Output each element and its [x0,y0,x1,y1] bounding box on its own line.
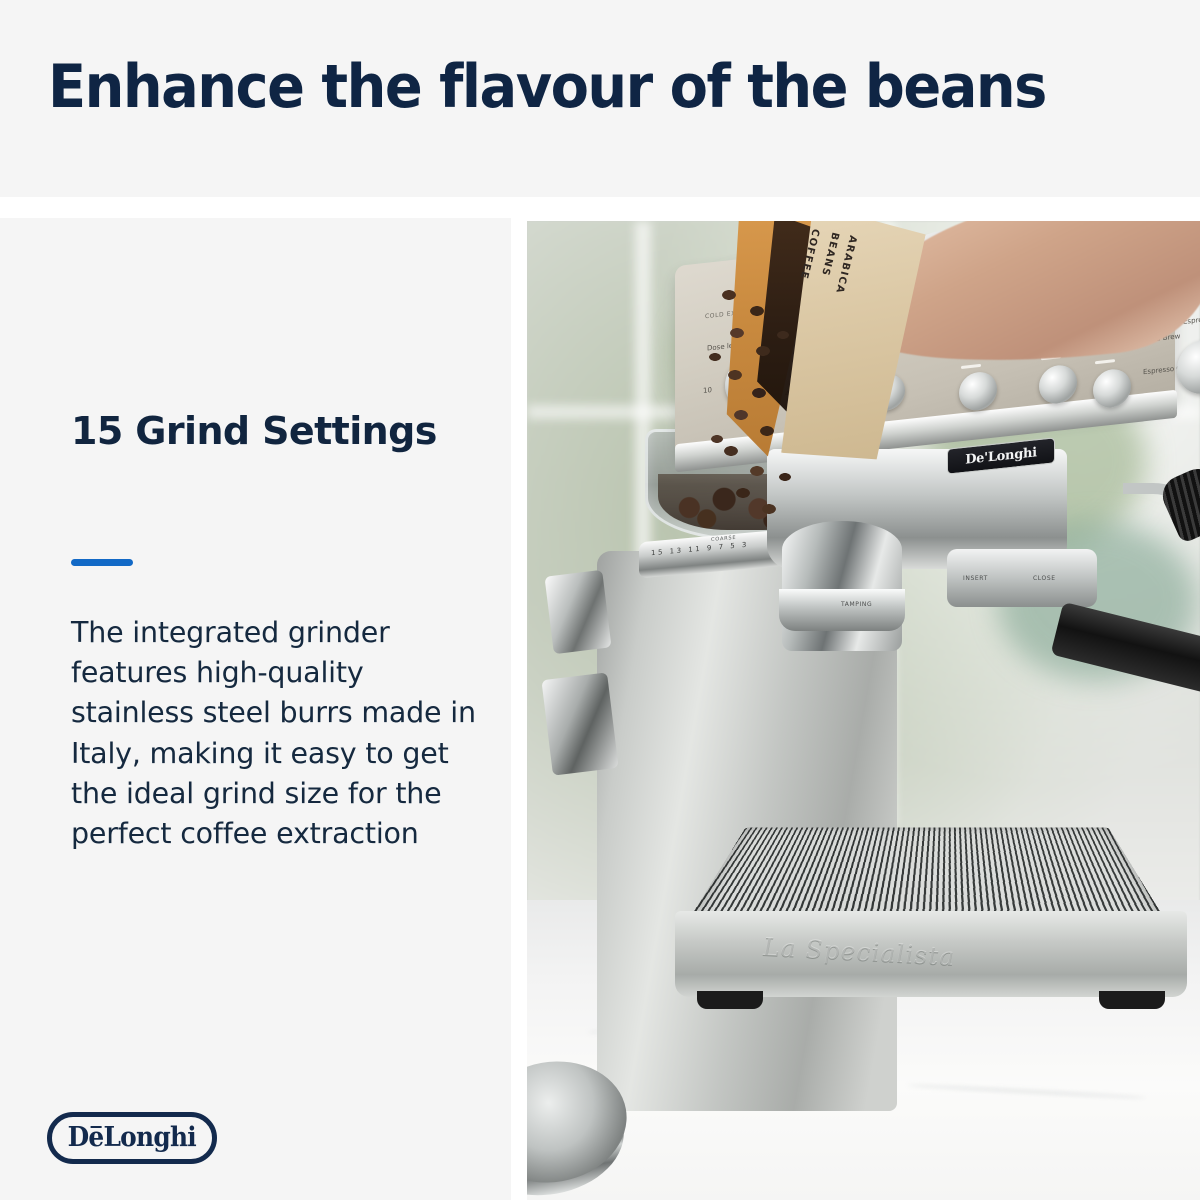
grind-dial-ticks: 15 13 11 9 7 5 3 [651,541,749,558]
feature-title: 15 Grind Settings [71,408,451,454]
logo-wordmark: DeLonghi [68,1124,196,1153]
page-headline: Enhance the flavour of the beans [48,56,1046,119]
delonghi-logo: DeLonghi [47,1112,217,1164]
machine-foot-left [697,991,763,1009]
portafilter-insert-label: INSERT [963,575,988,582]
logo-macron-accent [91,1126,102,1129]
left-content-panel: 15 Grind Settings The integrated grinder… [0,218,511,1200]
machine-brand-plate-label: De'Longhi [965,445,1037,468]
hotwater-button[interactable] [1093,367,1131,409]
portafilter-head: INSERT CLOSE [947,549,1097,607]
machine-side-lever-upper [544,570,611,654]
machine-side-lever-lower [541,672,618,775]
feature-body-text: The integrated grinder features high-qua… [71,613,483,854]
header-band: Enhance the flavour of the beans [0,0,1200,197]
steam-button[interactable] [1039,363,1077,405]
portafilter-close-label: CLOSE [1033,575,1056,582]
tamping-label: TAMPING [841,601,872,608]
ok-indicator [961,364,981,369]
ok-button[interactable] [959,370,997,412]
product-photo: COARSE 15 13 11 9 7 5 3 COLD EXTRACTION … [527,221,1200,1200]
machine-foot-right [1099,991,1165,1009]
promo-page: Enhance the flavour of the beans 15 Grin… [0,0,1200,1200]
hotwater-indicator [1095,359,1115,364]
beverage-selector-dial[interactable] [1177,337,1200,397]
logo-text-label: DeLonghi [68,1122,196,1153]
pouring-bean-stream [697,281,807,541]
title-divider [71,559,133,566]
tamping-collar: TAMPING [779,589,905,631]
